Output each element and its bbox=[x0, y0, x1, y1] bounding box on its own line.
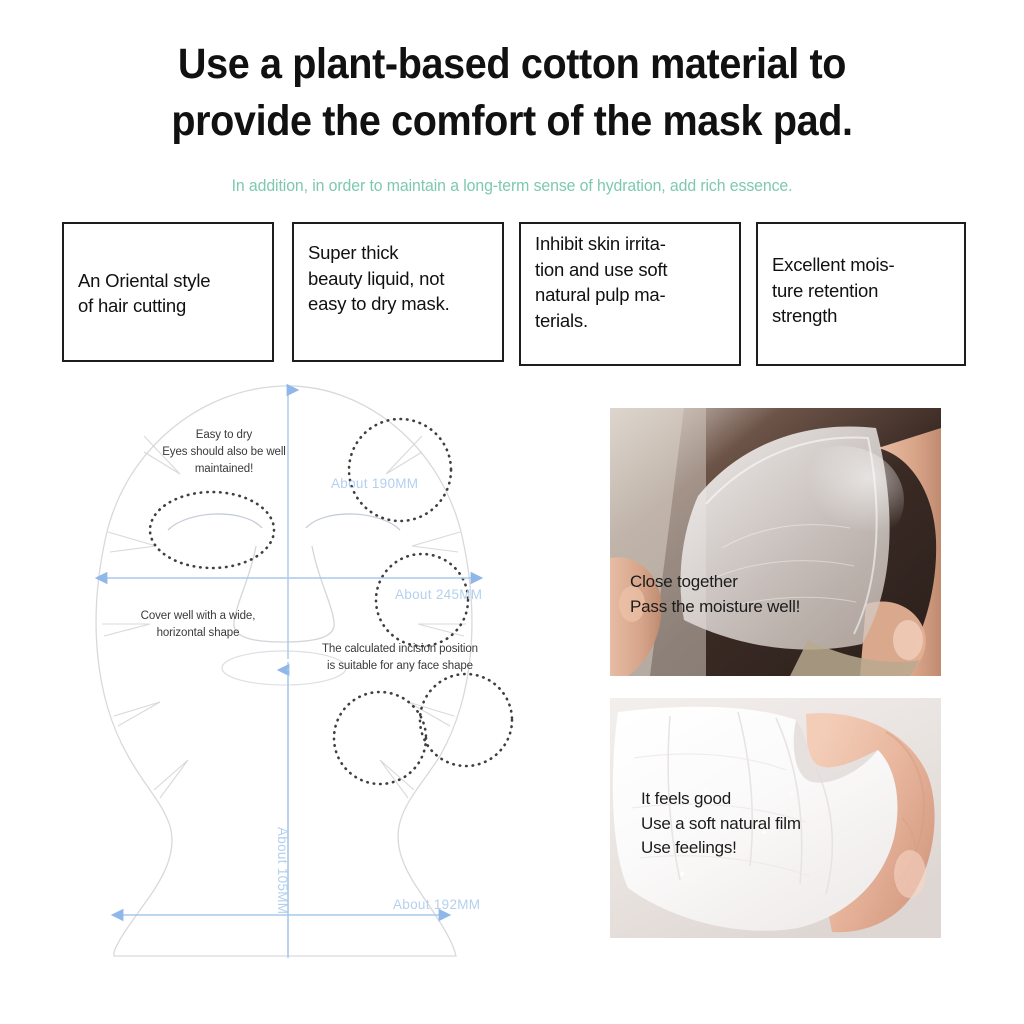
mask-eye-openings bbox=[168, 514, 400, 530]
feature-box-beauty-liquid: Super thick beauty liquid, not easy to d… bbox=[292, 222, 504, 362]
callout-circle-top-right bbox=[349, 419, 451, 521]
feature-box-moisture-retention: Excellent mois- ture retention strength bbox=[756, 222, 966, 366]
photo-caption-cotton: It feels good Use a soft natural film Us… bbox=[641, 787, 801, 861]
feature-box-text: An Oriental style of hair cutting bbox=[78, 268, 210, 319]
dimension-label-height-upper: About 190MM bbox=[331, 476, 418, 491]
feature-box-skin-irritation: Inhibit skin irrita- tion and use soft n… bbox=[519, 222, 741, 366]
feature-box-text: Excellent mois- ture retention strength bbox=[772, 252, 952, 329]
feature-box-text: Super thick beauty liquid, not easy to d… bbox=[308, 240, 490, 317]
dimension-label-width-upper: About 245MM bbox=[395, 587, 482, 602]
infographic-page: Use a plant-based cotton material to pro… bbox=[0, 0, 1024, 1024]
annotation-incision: The calculated incision position is suit… bbox=[300, 641, 500, 675]
product-photo-essence-sheet bbox=[610, 408, 941, 676]
feature-box-text: Inhibit skin irrita- tion and use soft n… bbox=[535, 231, 727, 333]
callout-circle-lower-a bbox=[334, 692, 426, 784]
feature-box-group: An Oriental style of hair cutting Super … bbox=[0, 0, 1024, 400]
annotation-cover: Cover well with a wide, horizontal shape bbox=[108, 608, 288, 642]
photo-caption-essence: Close together Pass the moisture well! bbox=[630, 570, 800, 619]
feature-box-hair-cutting: An Oriental style of hair cutting bbox=[62, 222, 274, 362]
dimension-label-height-lower: About 105MM bbox=[275, 827, 290, 914]
dimension-label-width-lower: About 192MM bbox=[393, 897, 480, 912]
annotation-eyes: Easy to dry Eyes should also be well mai… bbox=[136, 427, 312, 478]
